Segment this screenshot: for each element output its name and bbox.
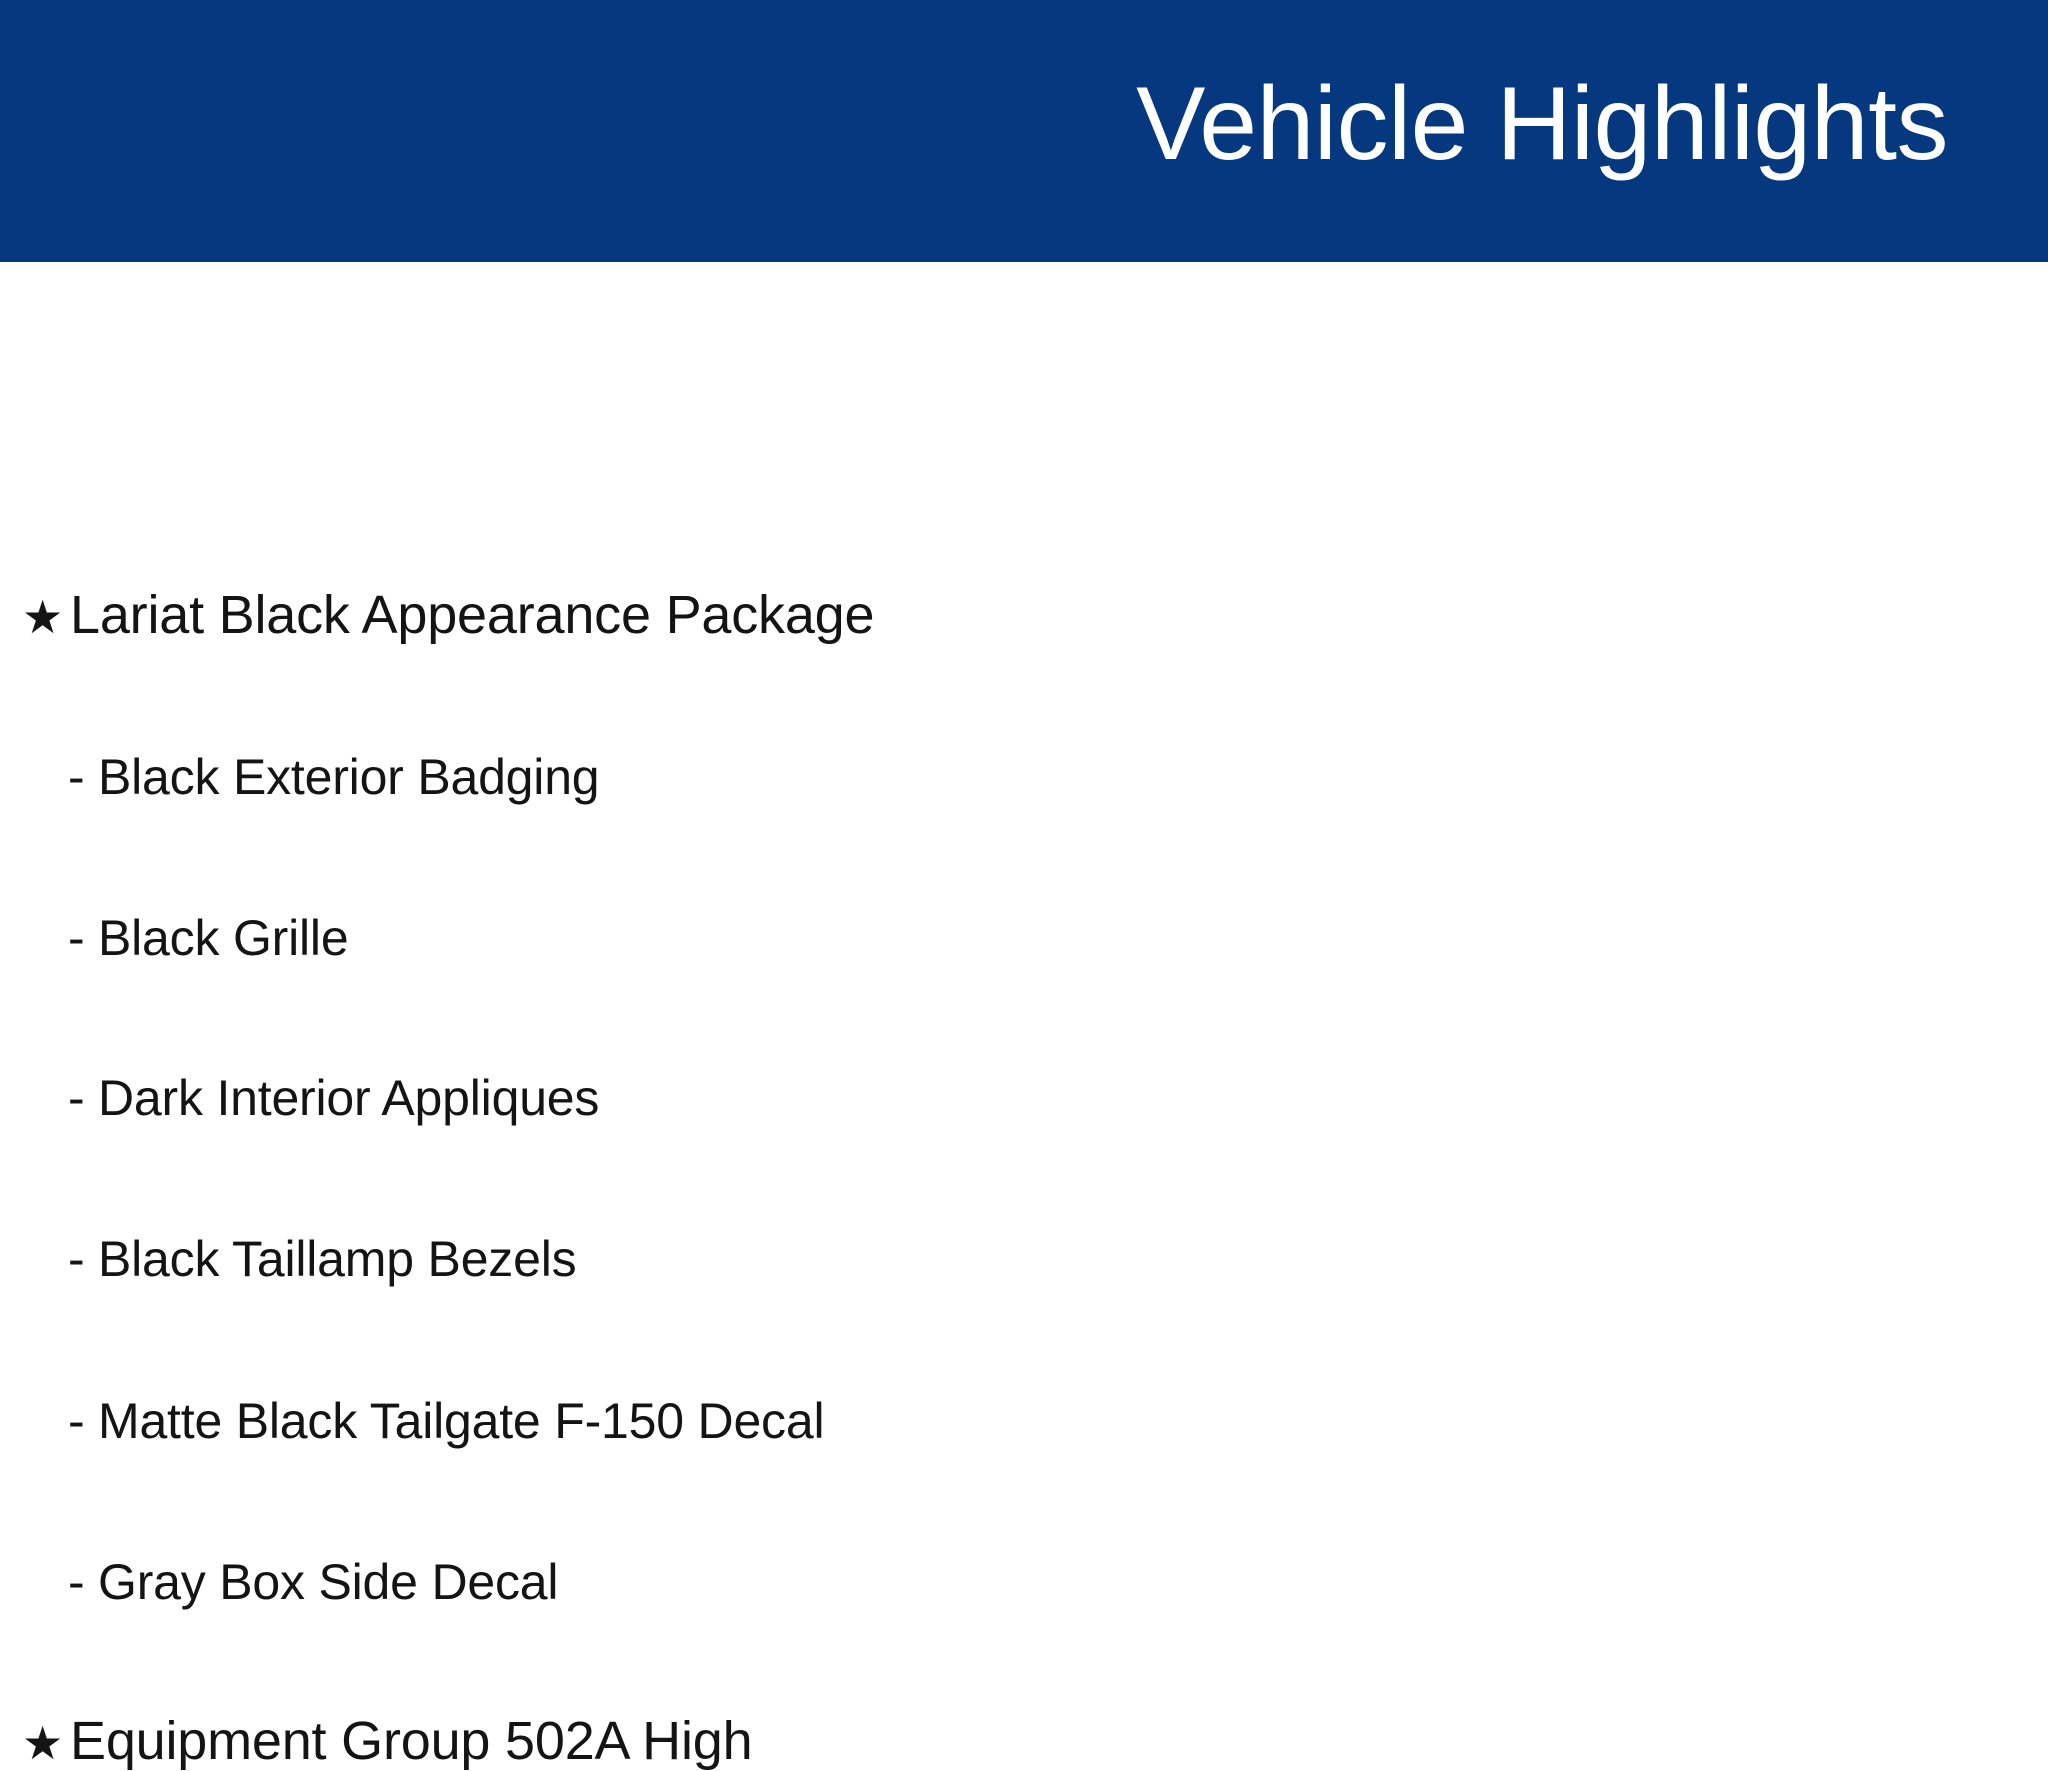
page-title: Vehicle Highlights bbox=[1136, 72, 2048, 190]
dash-icon: - bbox=[68, 1557, 98, 1607]
list-item-label: Lariat Black Appearance Package bbox=[70, 588, 874, 642]
list-item-label: Black Exterior Badging bbox=[98, 752, 599, 802]
list-item-label: Matte Black Tailgate F-150 Decal bbox=[98, 1396, 824, 1446]
dash-icon: - bbox=[68, 1234, 98, 1284]
list-item-label: Dark Interior Appliques bbox=[98, 1073, 599, 1123]
list-item-label: Black Grille bbox=[98, 913, 348, 963]
dash-icon: - bbox=[68, 913, 98, 963]
list-item: - Black Grille bbox=[0, 913, 348, 963]
list-item-label: Black Taillamp Bezels bbox=[98, 1234, 576, 1284]
dash-icon: - bbox=[68, 1073, 98, 1123]
dash-icon: - bbox=[68, 1396, 98, 1446]
star-icon: ★ bbox=[22, 1720, 70, 1766]
list-item: - Black Exterior Badging bbox=[0, 752, 599, 802]
header-band: Vehicle Highlights bbox=[0, 0, 2048, 262]
list-item: - Dark Interior Appliques bbox=[0, 1073, 599, 1123]
star-icon: ★ bbox=[22, 594, 70, 640]
list-item-label: Gray Box Side Decal bbox=[98, 1557, 558, 1607]
list-item-label: Equipment Group 502A High bbox=[70, 1714, 752, 1768]
list-item: - Gray Box Side Decal bbox=[0, 1557, 558, 1607]
list-item: - Black Taillamp Bezels bbox=[0, 1234, 576, 1284]
list-item: ★ Equipment Group 502A High bbox=[0, 1714, 752, 1768]
slide-content: ★ Lariat Black Appearance Package - Blac… bbox=[0, 262, 2048, 1536]
list-item: ★ Lariat Black Appearance Package bbox=[0, 588, 874, 642]
dash-icon: - bbox=[68, 752, 98, 802]
list-item: - Matte Black Tailgate F-150 Decal bbox=[0, 1396, 824, 1446]
